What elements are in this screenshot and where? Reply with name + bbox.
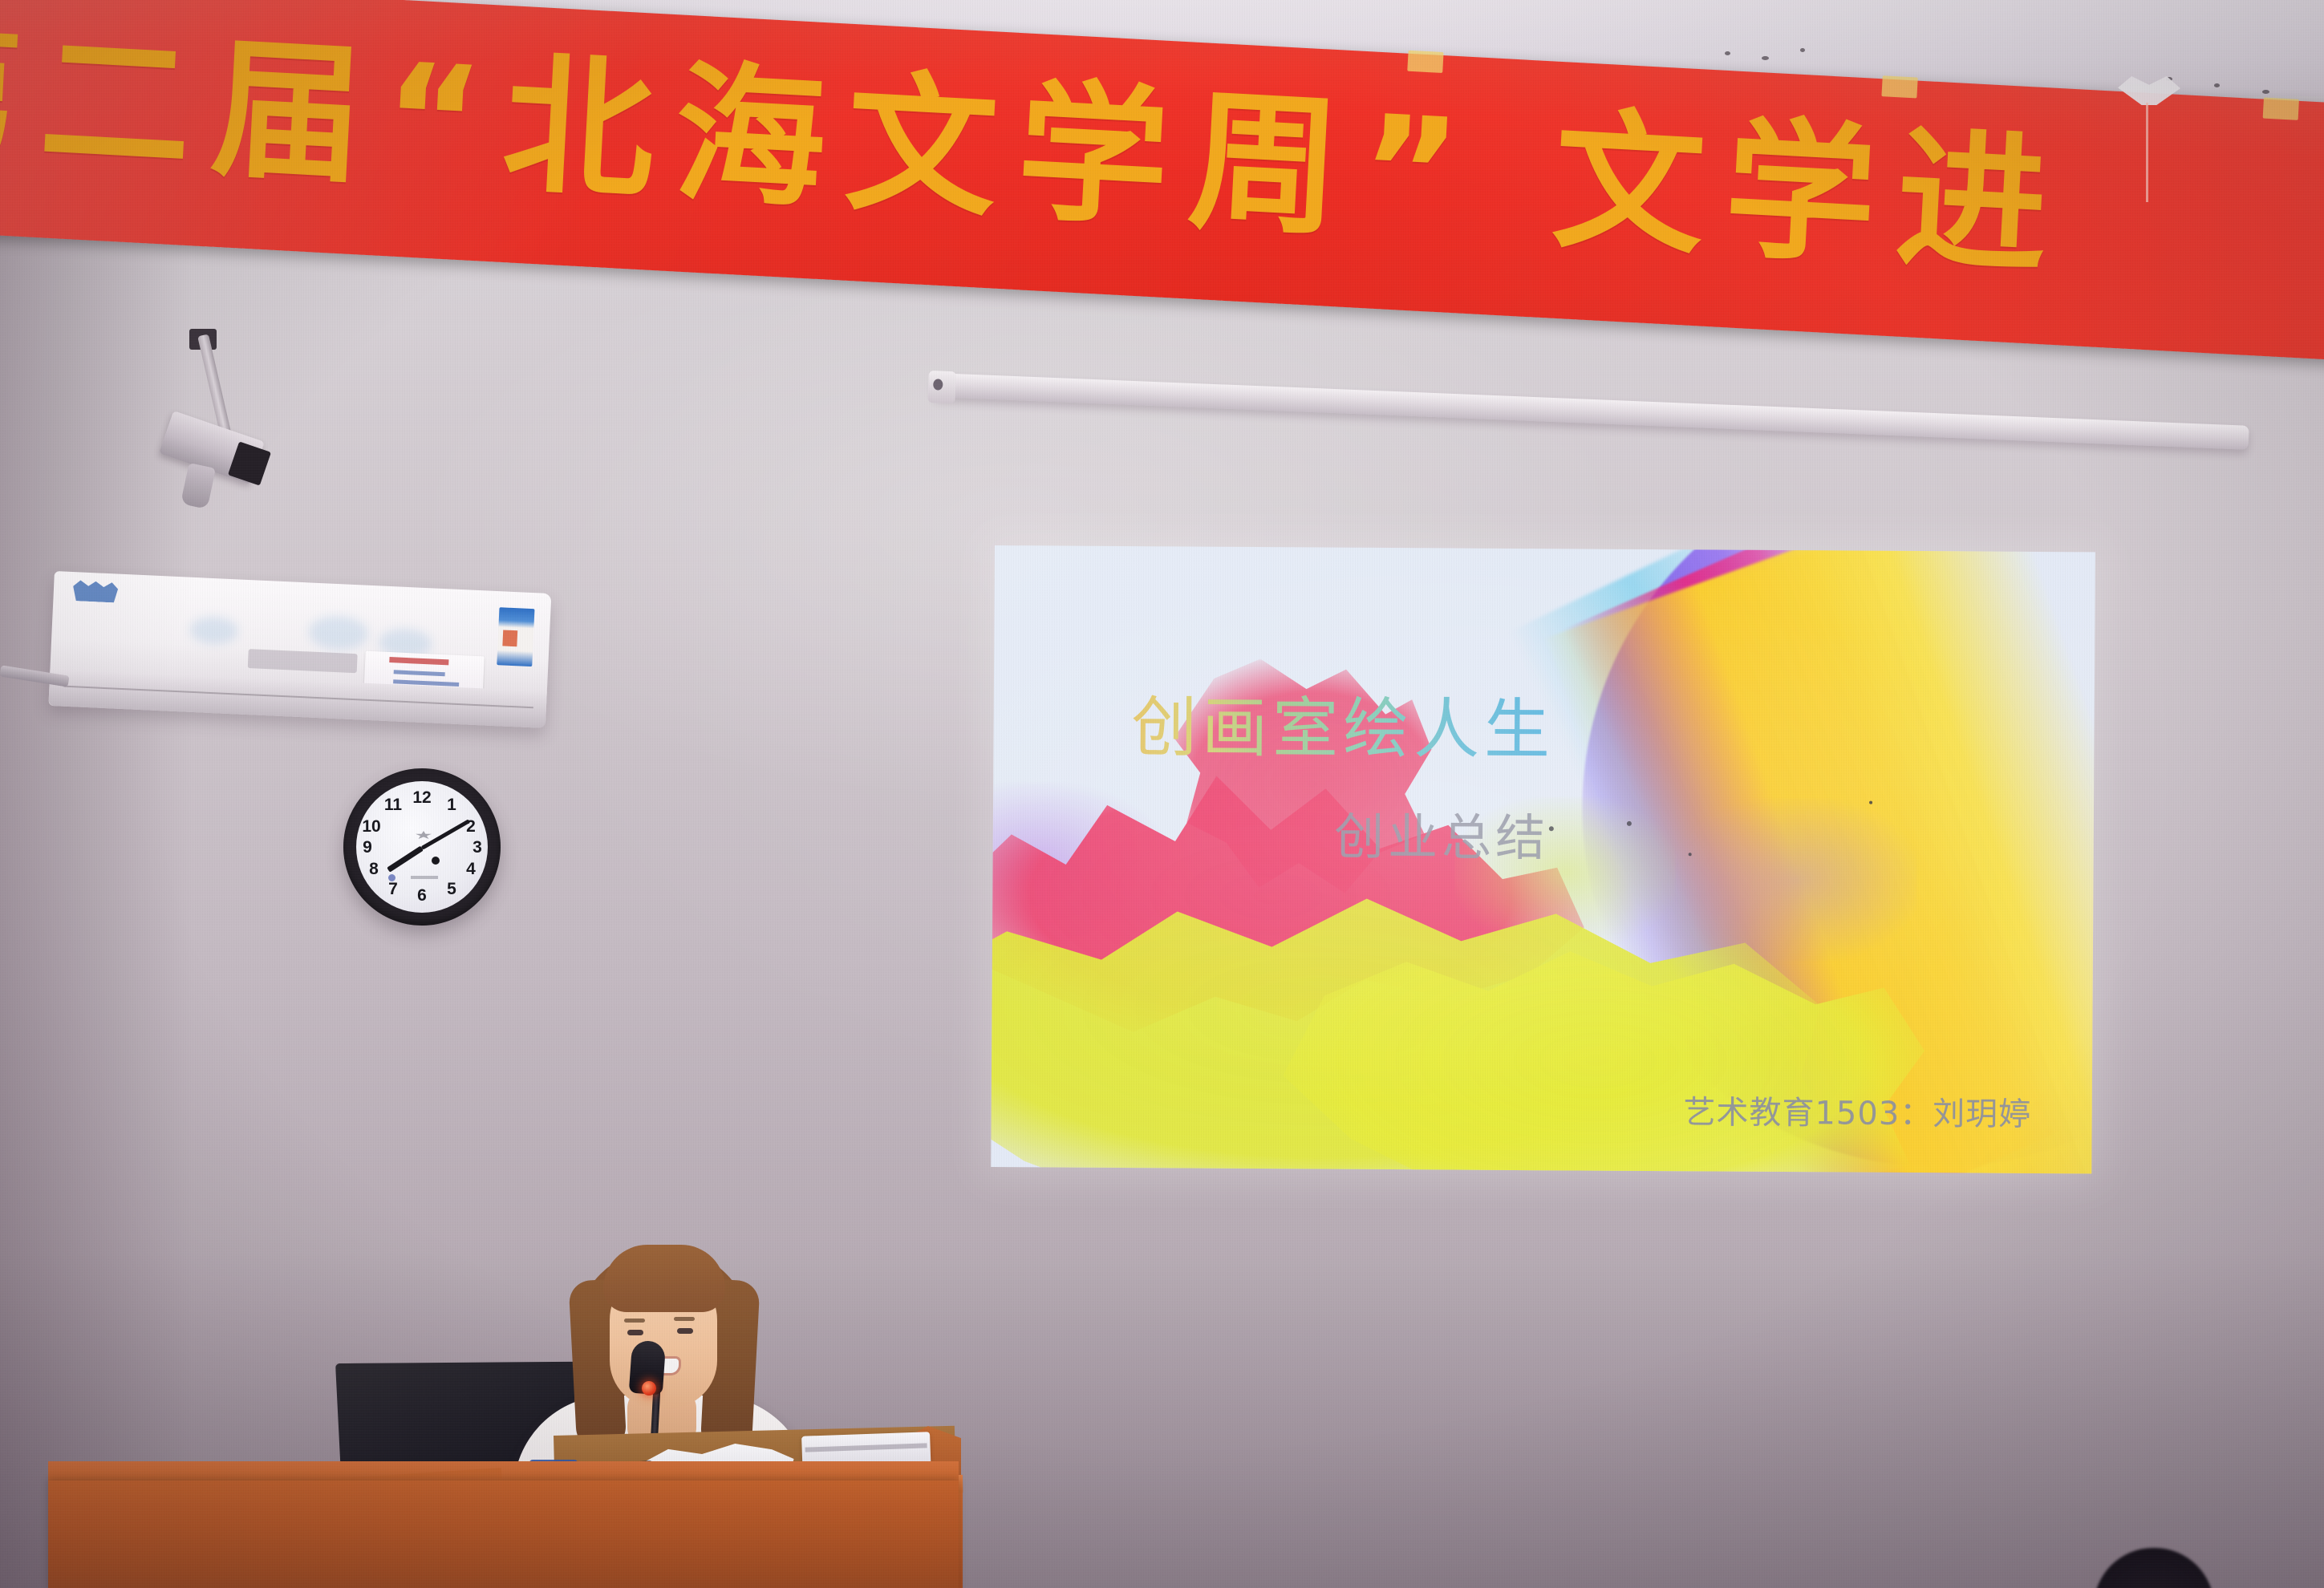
ceiling-speck xyxy=(2262,90,2269,94)
clock-numeral: 4 xyxy=(460,861,481,878)
clock-brand-mark xyxy=(416,831,432,839)
clock-numeral: 9 xyxy=(357,839,378,857)
microphone-indicator-light xyxy=(642,1381,656,1396)
ac-sticker-title xyxy=(389,657,448,665)
projector-screen-roller-cap xyxy=(927,371,956,403)
slide-footer-author: 艺术教育1503：刘玥婷 xyxy=(1683,1086,2031,1135)
clock-numeral: 12 xyxy=(412,789,432,807)
slide-title: 创画室绘人生 xyxy=(1131,674,1555,772)
ac-display-panel xyxy=(248,649,358,673)
speaker-brow-left xyxy=(624,1319,645,1323)
banner-tape xyxy=(1407,51,1443,73)
slide-speck xyxy=(1549,826,1554,831)
clock-numeral: 5 xyxy=(441,881,462,898)
slide-speck xyxy=(1869,800,1872,804)
clock-numeral: 7 xyxy=(383,881,404,898)
clock-numeral: 1 xyxy=(441,796,462,814)
banner-tape xyxy=(1881,75,1917,98)
clock-hour-hand xyxy=(387,846,424,873)
slide-splash-violet xyxy=(1674,798,1917,961)
ceiling-speck xyxy=(1800,48,1805,52)
slide-subtitle: 创业总结 xyxy=(1334,796,1550,870)
clock-blue-dot xyxy=(388,874,395,881)
slide-canvas: 创画室绘人生 创业总结 艺术教育1503：刘玥婷 xyxy=(991,545,2095,1173)
clock-numeral: 6 xyxy=(412,887,432,905)
ceiling-speck xyxy=(2214,83,2220,87)
clock-face: 12 1 2 3 4 5 6 7 8 9 10 11 xyxy=(356,781,488,913)
ac-brand-logo xyxy=(72,580,118,603)
ac-stain xyxy=(308,614,369,650)
clock-numeral: 8 xyxy=(363,861,384,878)
ceiling-speck xyxy=(1725,51,1730,55)
clock-numeral: 10 xyxy=(361,818,382,836)
podium-front-panel xyxy=(48,1481,959,1588)
speaker-brow-right xyxy=(674,1317,695,1321)
speaker-bangs xyxy=(603,1245,725,1312)
clock-submark xyxy=(411,876,438,879)
clock-numeral: 11 xyxy=(383,796,404,814)
clock-center-pin xyxy=(432,857,440,865)
projected-slide: 创画室绘人生 创业总结 艺术教育1503：刘玥婷 xyxy=(991,545,2095,1173)
banner-string xyxy=(2146,103,2148,202)
clock-numeral: 3 xyxy=(467,839,488,857)
wall-clock-icon: 12 1 2 3 4 5 6 7 8 9 10 11 xyxy=(343,768,501,926)
ac-stain xyxy=(189,616,238,646)
air-conditioner-icon xyxy=(48,571,551,728)
ac-sticker-line xyxy=(394,670,445,676)
lecture-hall-scene: 第二届“北海文学周” 文学进 12 1 2 3 xyxy=(0,0,2324,1588)
banner-tape xyxy=(2263,98,2299,120)
ac-energy-label xyxy=(497,607,534,666)
ceiling-speck xyxy=(1762,56,1769,60)
speaker-eye-left xyxy=(627,1330,643,1335)
speaker-eye-right xyxy=(677,1328,693,1334)
